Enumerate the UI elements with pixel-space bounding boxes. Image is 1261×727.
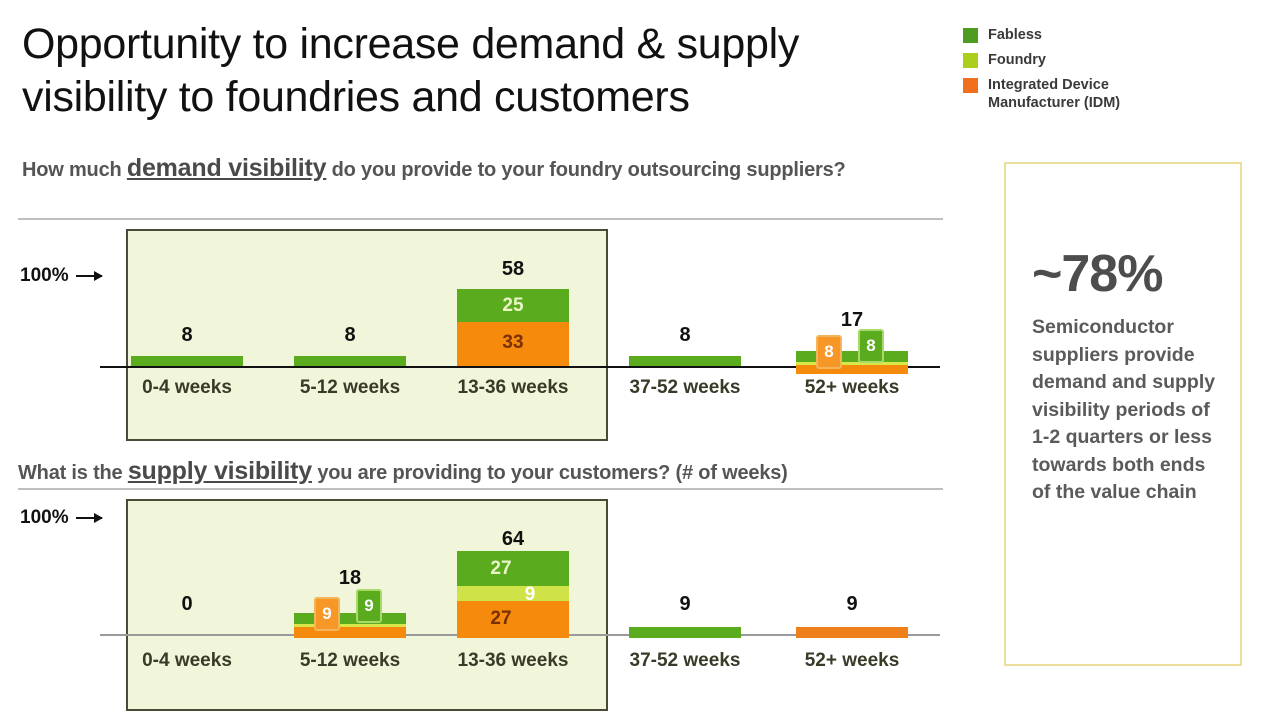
chart2-question-suffix: you are providing to your customers? (# …	[312, 462, 788, 484]
bar-segment-fabless	[629, 627, 741, 638]
chart1-bar-group-0[interactable]: 8 0-4 weeks	[131, 225, 243, 410]
bar-total-label: 8	[131, 324, 243, 347]
callout-headline: ~78%	[1032, 246, 1218, 302]
bar-segment-fabless	[629, 356, 741, 366]
callout-chip-idm: 9	[314, 597, 340, 631]
bar-total-label: 9	[629, 593, 741, 616]
chart1-axis-100-label: 100%	[20, 265, 102, 287]
category-label: 13-36 weeks	[457, 650, 569, 672]
chart2-question: What is the supply visibility you are pr…	[18, 458, 1018, 487]
bar-segment-fabless	[796, 351, 908, 362]
category-label: 0-4 weeks	[131, 650, 243, 672]
callout-body: Semiconductor suppliers provide demand a…	[1032, 314, 1218, 507]
bar-total-label: 58	[457, 258, 569, 281]
category-label: 52+ weeks	[796, 377, 908, 399]
legend-label: Fabless	[988, 26, 1042, 44]
axis-100-text: 100%	[20, 265, 69, 287]
bar-segment-idm	[294, 627, 406, 638]
chart2-question-rule	[18, 488, 943, 490]
right-arrow-icon	[76, 517, 102, 519]
chart2-question-emphasis: supply visibility	[128, 457, 312, 485]
chart1-bar-group-2[interactable]: 58 25 33 13-36 weeks	[457, 225, 569, 410]
bar-segment-fabless	[294, 356, 406, 366]
legend: Fabless Foundry Integrated Device Manufa…	[963, 26, 1233, 119]
category-label: 52+ weeks	[796, 650, 908, 672]
bar-total-label: 18	[294, 567, 406, 590]
callout-chip-value: 9	[364, 596, 373, 616]
bar-stack	[629, 356, 741, 366]
legend-label: Foundry	[988, 51, 1046, 69]
category-label: 37-52 weeks	[629, 650, 741, 672]
bar-stack	[294, 613, 406, 638]
category-label: 0-4 weeks	[131, 377, 243, 399]
bar-total-label: 8	[629, 324, 741, 347]
chart2-bar-group-3[interactable]: 9 37-52 weeks	[629, 495, 741, 685]
legend-item-fabless: Fabless	[963, 26, 1233, 44]
bar-segment-label-fabless: 25	[457, 296, 569, 315]
bar-total-label: 0	[131, 593, 243, 616]
bar-stack	[796, 627, 908, 638]
category-label: 5-12 weeks	[294, 377, 406, 399]
bar-segment-label-idm: 33	[457, 333, 569, 352]
callout-chip-value: 8	[824, 342, 833, 362]
square-swatch-icon	[963, 28, 978, 43]
chart1-question-emphasis: demand visibility	[127, 154, 326, 182]
callout-chip-fabless: 9	[356, 589, 382, 623]
bar-segment-fabless: 27	[457, 551, 569, 586]
chart2-bar-group-1[interactable]: 18 9 9 5-12 weeks	[294, 495, 406, 685]
chart1: 100% 8 0-4 weeks 8 5-12 weeks 58	[0, 225, 960, 445]
category-label: 13-36 weeks	[457, 377, 569, 399]
bar-stack: 25 33	[457, 289, 569, 366]
bar-total-label: 9	[796, 593, 908, 616]
bar-segment-fabless	[131, 356, 243, 366]
bar-segment-label-fabless: 27	[433, 559, 569, 578]
legend-item-idm: Integrated Device Manufacturer (IDM)	[963, 76, 1233, 112]
bar-stack: 27 9 27	[457, 551, 569, 638]
bar-total-label: 8	[294, 324, 406, 347]
chart2-bar-group-4[interactable]: 9 52+ weeks	[796, 495, 908, 685]
bar-total-label: 17	[796, 309, 908, 332]
bar-segment-foundry: 9	[457, 586, 569, 601]
slide-root: Opportunity to increase demand & supply …	[0, 0, 1261, 727]
chart2-bar-group-0[interactable]: 0 0-4 weeks	[131, 495, 243, 685]
bar-segment-idm: 33	[457, 322, 569, 366]
bar-segment-idm	[796, 365, 908, 374]
bar-segment-idm	[796, 627, 908, 638]
chart2-question-prefix: What is the	[18, 462, 128, 484]
bar-segment-fabless: 25	[457, 289, 569, 322]
right-arrow-icon	[76, 275, 102, 277]
chart1-question-prefix: How much	[22, 159, 127, 181]
chart2: 100% 0 0-4 weeks 18 9 9 5-12 weeks	[0, 495, 960, 727]
bar-stack	[796, 351, 908, 374]
chart1-bar-group-3[interactable]: 8 37-52 weeks	[629, 225, 741, 410]
chart1-question-suffix: do you provide to your foundry outsourci…	[326, 159, 845, 181]
chart2-axis-100-label: 100%	[20, 507, 102, 529]
legend-item-foundry: Foundry	[963, 51, 1233, 69]
callout-chip-idm: 8	[816, 335, 842, 369]
bar-segment-idm: 27	[457, 601, 569, 638]
bar-stack	[131, 356, 243, 366]
chart1-question-rule	[18, 218, 943, 220]
callout-chip-value: 8	[866, 336, 875, 356]
bar-stack	[629, 627, 741, 638]
bar-total-label: 64	[457, 528, 569, 551]
legend-label: Integrated Device Manufacturer (IDM)	[988, 76, 1148, 112]
square-swatch-icon	[963, 53, 978, 68]
chart2-bar-group-2[interactable]: 64 27 9 27 13-36 weeks	[457, 495, 569, 685]
callout-chip-value: 9	[322, 604, 331, 624]
bar-stack	[294, 356, 406, 366]
chart1-bar-group-1[interactable]: 8 5-12 weeks	[294, 225, 406, 410]
bar-segment-label-idm: 27	[433, 609, 569, 628]
page-title: Opportunity to increase demand & supply …	[22, 18, 942, 124]
chart1-question: How much demand visibility do you provid…	[22, 155, 952, 184]
square-swatch-icon	[963, 78, 978, 93]
summary-callout-panel: ~78% Semiconductor suppliers provide dem…	[1004, 162, 1242, 666]
category-label: 37-52 weeks	[629, 377, 741, 399]
axis-100-text: 100%	[20, 507, 69, 529]
bar-segment-fabless	[294, 613, 406, 624]
chart1-bar-group-4[interactable]: 17 8 8 52+ weeks	[796, 225, 908, 410]
category-label: 5-12 weeks	[294, 650, 406, 672]
callout-chip-fabless: 8	[858, 329, 884, 363]
